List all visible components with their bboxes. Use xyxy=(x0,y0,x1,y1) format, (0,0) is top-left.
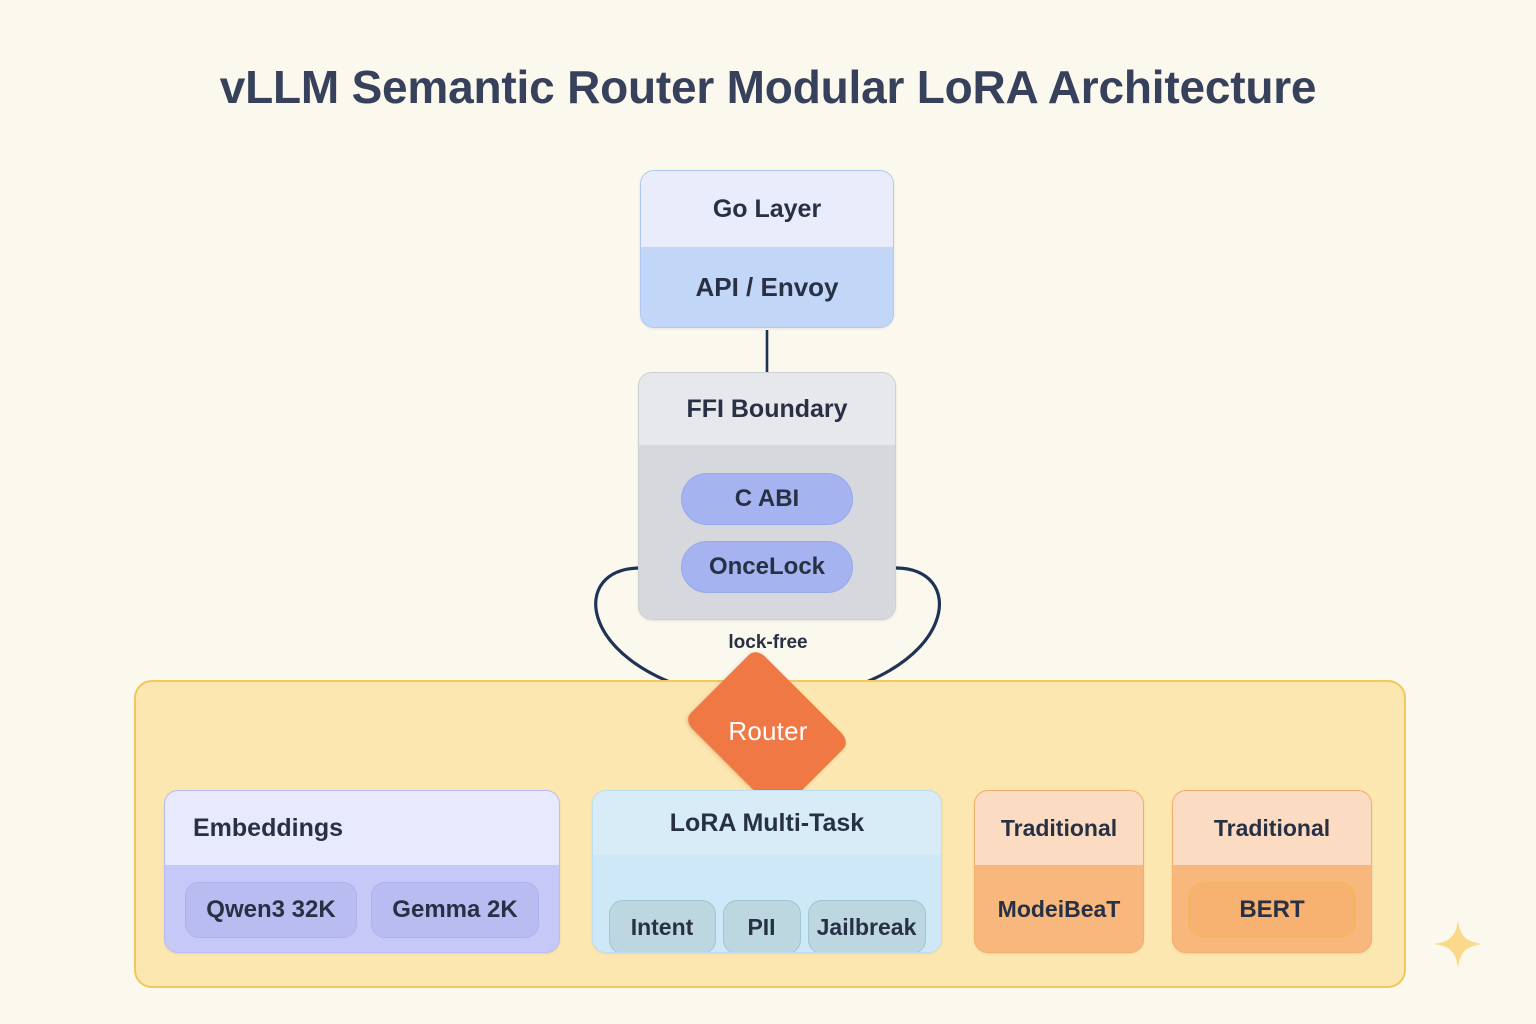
node-go-layer[interactable]: Go Layer API / Envoy xyxy=(640,170,894,328)
node-traditional-bert[interactable]: Traditional BERT xyxy=(1172,790,1372,953)
node-traditional-1-body: ModeiBeaT xyxy=(975,865,1143,953)
chip-jailbreak[interactable]: Jailbreak xyxy=(808,900,926,953)
pill-c-abi[interactable]: C ABI xyxy=(681,473,853,525)
node-go-layer-header: Go Layer xyxy=(641,171,893,247)
node-embeddings[interactable]: Embeddings Qwen3 32K Gemma 2K xyxy=(164,790,560,953)
node-ffi-boundary-body: C ABI OnceLock xyxy=(639,445,895,620)
node-traditional-modernbert[interactable]: Traditional ModeiBeaT xyxy=(974,790,1144,953)
node-ffi-boundary-header: FFI Boundary xyxy=(639,373,895,445)
node-traditional-1-header: Traditional xyxy=(975,791,1143,865)
sparkle-icon xyxy=(1432,918,1484,970)
pill-gemma-2k[interactable]: Gemma 2K xyxy=(371,882,539,938)
pill-oncelock[interactable]: OnceLock xyxy=(681,541,853,593)
node-ffi-boundary[interactable]: FFI Boundary C ABI OnceLock xyxy=(638,372,896,620)
node-traditional-2-body: BERT xyxy=(1173,865,1371,953)
node-router[interactable]: Router xyxy=(683,681,853,781)
chip-pii[interactable]: PII xyxy=(723,900,801,953)
node-embeddings-body: Qwen3 32K Gemma 2K xyxy=(165,865,559,953)
node-router-label: Router xyxy=(683,681,853,781)
node-embeddings-header: Embeddings xyxy=(165,791,559,865)
page-title: vLLM Semantic Router Modular LoRA Archit… xyxy=(0,60,1536,114)
edge-label-lock-free: lock-free xyxy=(668,632,868,654)
chip-intent[interactable]: Intent xyxy=(609,900,716,953)
node-go-layer-body: API / Envoy xyxy=(641,247,893,328)
node-lora-multi-task[interactable]: LoRA Multi-Task Intent PII Jailbreak xyxy=(592,790,942,953)
node-traditional-2-header: Traditional xyxy=(1173,791,1371,865)
pill-bert[interactable]: BERT xyxy=(1188,882,1356,938)
node-lora-body: Intent PII Jailbreak xyxy=(593,855,941,953)
node-lora-header: LoRA Multi-Task xyxy=(593,791,941,855)
pill-qwen3-32k[interactable]: Qwen3 32K xyxy=(185,882,357,938)
